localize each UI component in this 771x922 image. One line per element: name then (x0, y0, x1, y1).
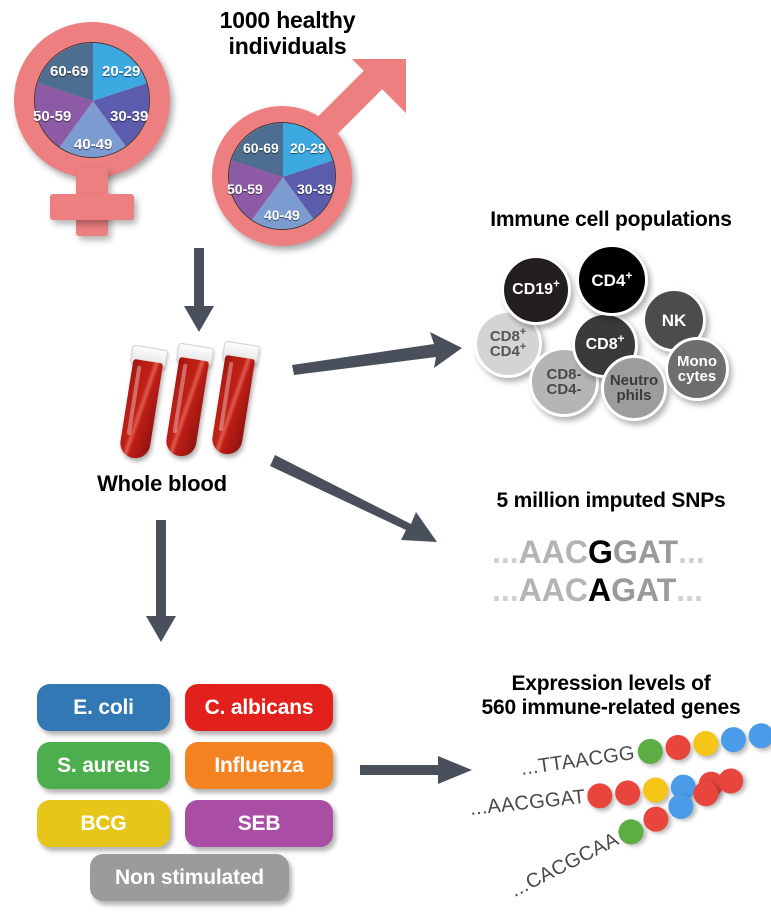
tube-blood-fill (210, 355, 255, 456)
expression-dot (614, 779, 641, 806)
whole-blood-label: Whole blood (72, 472, 252, 497)
stimulus-label: C. albicans (205, 696, 314, 720)
stimulus-seb[interactable]: SEB (185, 800, 333, 847)
snp-prefix-dots: ... (492, 572, 519, 609)
expression-heading-line2: 560 immune-related genes (452, 696, 770, 720)
female-pie-label-20-29: 20-29 (102, 63, 140, 80)
bubble-label: Monocytes (677, 354, 717, 384)
female-pie-label-60-69: 60-69 (50, 63, 88, 80)
arrow-down-cohort-to-blood (178, 248, 222, 334)
immune-bubble-monocytes: Monocytes (665, 337, 729, 401)
tube-blood-fill (164, 357, 209, 458)
stimulus-label: BCG (80, 812, 126, 836)
arrow-down-blood-to-stimuli (140, 520, 184, 644)
male-pie-label-40-49: 40-49 (264, 207, 300, 223)
bubble-label: CD4+ (591, 272, 632, 289)
strand-sequence: ...CACGCAA (507, 828, 623, 902)
immune-bubble-cd4-positive: CD4+ (576, 244, 648, 316)
stimulus-calbicans[interactable]: C. albicans (185, 684, 333, 731)
snp-left-bases: AAC (519, 534, 588, 571)
arrow-blood-to-snps (275, 452, 451, 546)
snp-allele-row-2: ...AACAGAT... (492, 572, 703, 609)
immune-bubble-cd8-cd4-positive: CD8+CD4+ (474, 310, 542, 378)
female-pie-label-40-49: 40-49 (74, 136, 112, 153)
male-pie-label-30-39: 30-39 (297, 181, 333, 197)
female-gender-symbol: 20-29 30-39 40-49 50-59 60-69 (8, 18, 188, 238)
bubble-label: CD8-CD4- (546, 367, 581, 397)
male-pie-label-20-29: 20-29 (290, 140, 326, 156)
strand-sequence: ...AACGGAT (469, 786, 587, 821)
immune-bubble-cd8-positive: CD8+ (572, 312, 638, 378)
snp-prefix-dots: ... (492, 534, 519, 571)
immune-bubble-cd8-cd4-negative: CD8-CD4- (529, 347, 599, 417)
expression-dot (664, 733, 692, 761)
stimulus-label: Non stimulated (115, 866, 264, 890)
bubble-label: Neutrophils (610, 373, 658, 403)
stimulus-non-stimulated[interactable]: Non stimulated (90, 854, 289, 901)
stimulus-label: Influenza (214, 754, 303, 778)
snp-allele-row-1: ...AACGGAT... (492, 534, 705, 571)
blood-tube (210, 341, 257, 456)
female-pie-label-30-39: 30-39 (110, 108, 148, 125)
immune-bubble-cd19-positive: CD19+ (501, 255, 571, 325)
whole-blood-tubes (118, 340, 288, 470)
male-pie-label-60-69: 60-69 (243, 140, 279, 156)
female-pie-label-50-59: 50-59 (33, 108, 71, 125)
expression-dot (586, 782, 613, 809)
male-pie-label-50-59: 50-59 (227, 181, 263, 197)
snp-left-bases: AAC (519, 572, 588, 609)
arrow-blood-to-immune-cells (292, 330, 464, 376)
cohort-heading-line1: 1000 healthy (180, 8, 395, 34)
snp-variant-base: G (588, 534, 613, 571)
bubble-label: CD8+ (586, 337, 625, 353)
snp-right-bases: GAT (611, 572, 676, 609)
snp-right-bases: GAT (613, 534, 678, 571)
immune-bubble-nk: NK (642, 288, 706, 352)
tube-blood-fill (118, 359, 163, 460)
expression-dot (719, 726, 747, 754)
immune-bubble-neutrophils: Neutrophils (601, 355, 667, 421)
stimulus-ecoli[interactable]: E. coli (37, 684, 170, 731)
blood-tube (164, 343, 211, 458)
figure-canvas: 1000 healthy individuals 20-29 30-39 40-… (0, 0, 771, 922)
expression-dot (747, 722, 771, 750)
bubble-label: CD19+ (512, 282, 560, 298)
expression-heading-line1: Expression levels of (452, 672, 770, 696)
expression-panel-heading: Expression levels of 560 immune-related … (452, 672, 770, 719)
stimulus-saureus[interactable]: S. aureus (37, 742, 170, 789)
arrow-stimuli-to-expression (360, 755, 476, 787)
snp-panel-heading: 5 million imputed SNPs (455, 489, 767, 513)
snp-suffix-dots: ... (678, 534, 705, 571)
strand-sequence: ...TTAACGG (519, 742, 636, 781)
expression-dot (636, 737, 664, 765)
bubble-label: CD8+CD4+ (490, 329, 526, 359)
stimulus-label: E. coli (73, 696, 133, 720)
snp-suffix-dots: ... (676, 572, 703, 609)
stimulus-bcg[interactable]: BCG (37, 800, 170, 847)
bubble-label: NK (662, 312, 687, 329)
stimulus-label: S. aureus (57, 754, 150, 778)
female-symbol-stem-cross (50, 194, 134, 220)
blood-tube (118, 345, 165, 460)
male-gender-symbol: 20-29 30-39 40-49 50-59 60-69 (208, 80, 418, 260)
stimulus-label: SEB (238, 812, 281, 836)
snp-variant-base: A (588, 572, 611, 609)
expression-dot (691, 729, 719, 757)
stimulus-influenza[interactable]: Influenza (185, 742, 333, 789)
immune-panel-heading: Immune cell populations (452, 208, 770, 232)
